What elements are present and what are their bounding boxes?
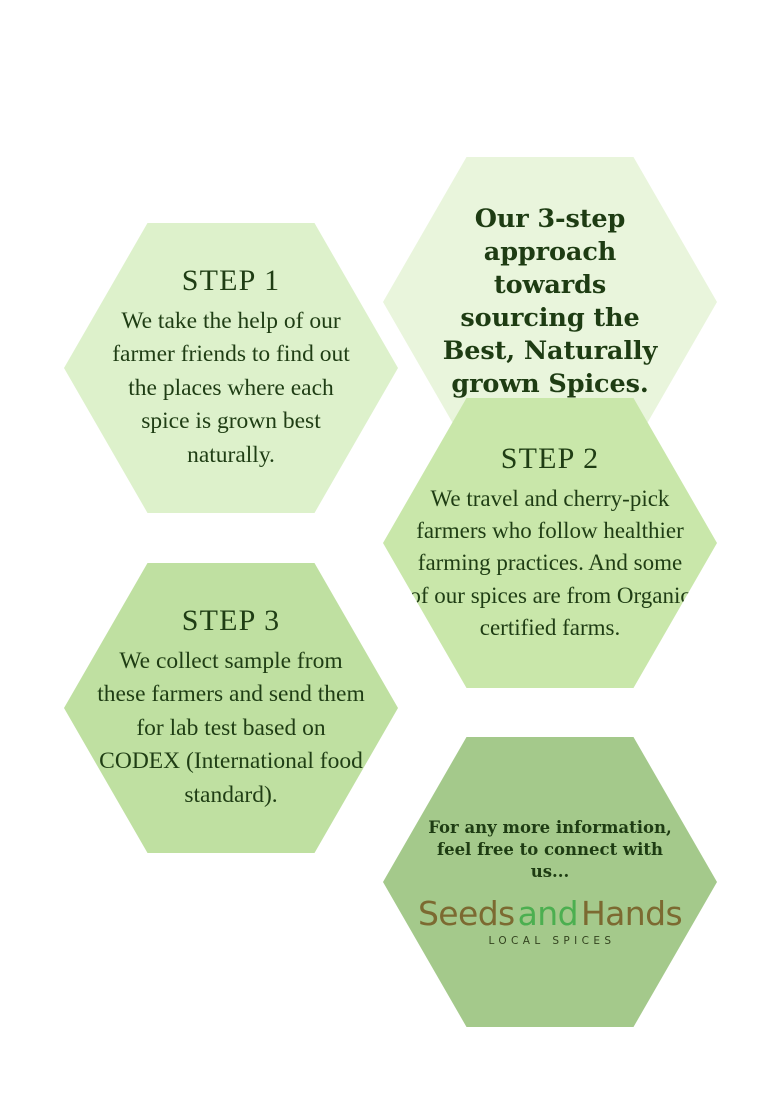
brand-word-seeds: Seeds <box>418 894 515 933</box>
brand-logo: SeedsandHands <box>418 897 682 930</box>
step-2-label: STEP 2 <box>501 442 600 475</box>
infographic-canvas: Our 3-step approach towards sourcing the… <box>0 0 780 1108</box>
brand-word-hands: Hands <box>581 894 682 933</box>
hexagon-step-2: STEP 2 We travel and cherry-pick farmers… <box>383 398 717 688</box>
brand-word-and: and <box>515 894 581 933</box>
step-1-body: We take the help of our farmer friends t… <box>112 305 350 472</box>
step-1-label: STEP 1 <box>182 264 281 297</box>
hexagon-step-1: STEP 1 We take the help of our farmer fr… <box>64 223 398 513</box>
contact-message: For any more information, feel free to c… <box>419 817 681 883</box>
title-text: Our 3-step approach towards sourcing the… <box>437 203 663 402</box>
brand-tagline: LOCAL SPICES <box>485 935 616 947</box>
step-3-body: We collect sample from these farmers and… <box>94 645 368 812</box>
step-2-body: We travel and cherry-pick farmers who fo… <box>409 483 691 644</box>
step-3-label: STEP 3 <box>182 604 281 637</box>
hexagon-step-3: STEP 3 We collect sample from these farm… <box>64 563 398 853</box>
hexagon-contact: For any more information, feel free to c… <box>383 737 717 1027</box>
